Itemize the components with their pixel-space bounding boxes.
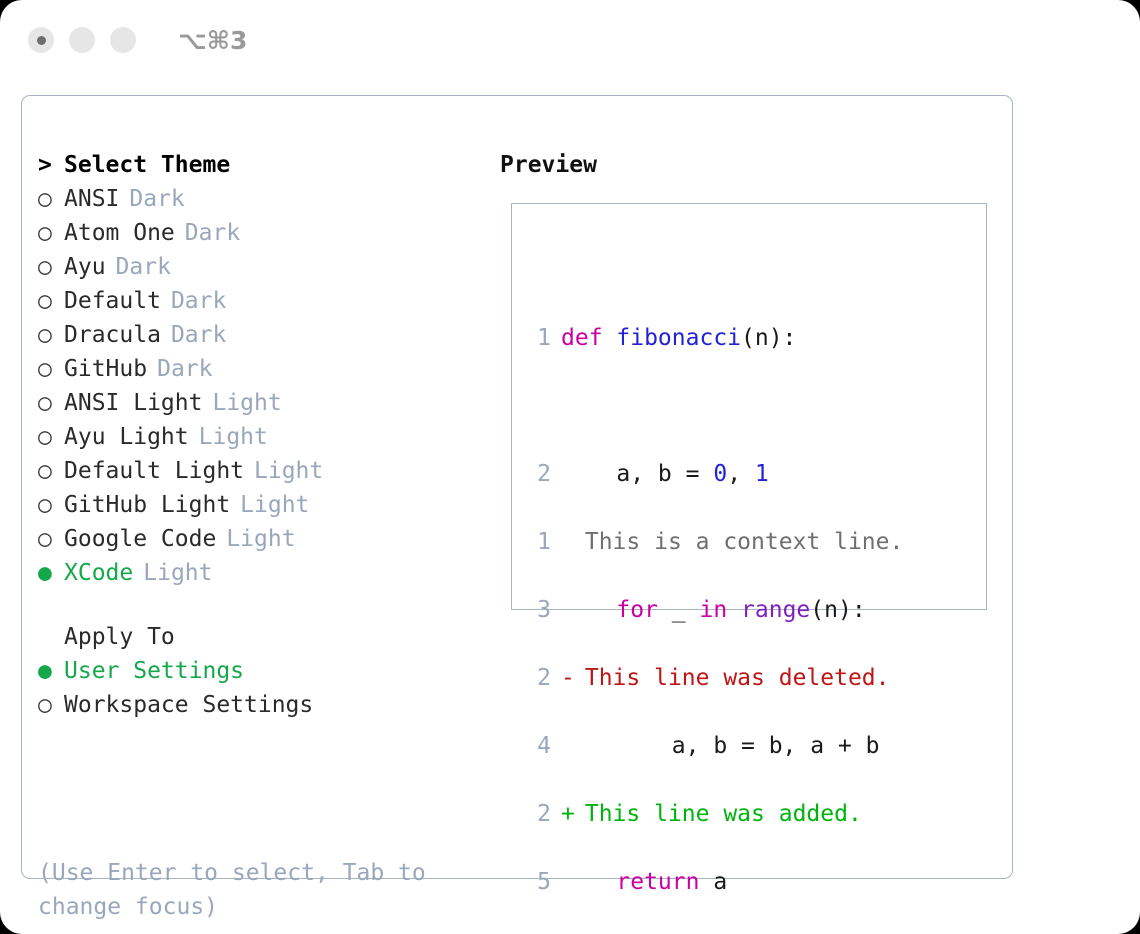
select-theme-heading-label: Select Theme xyxy=(64,152,230,178)
theme-item-label: GitHub Light xyxy=(64,492,230,518)
apply-to-option-label: User Settings xyxy=(64,658,244,684)
theme-item-atom-one[interactable]: ○Atom OneDark xyxy=(38,216,468,250)
theme-item-default-light[interactable]: ○Default LightLight xyxy=(38,454,468,488)
diff-sign xyxy=(561,529,575,555)
radio-selected-icon[interactable]: ● xyxy=(38,654,64,688)
preview-section: Preview xyxy=(500,148,1000,182)
theme-item-variant: Dark xyxy=(171,288,226,314)
app-window: ⌥⌘3 >Select Theme ○ANSIDark ○Atom OneDar… xyxy=(0,0,1140,934)
radio-empty-icon[interactable]: ○ xyxy=(38,522,64,556)
title-bar: ⌥⌘3 xyxy=(0,0,1140,80)
theme-item-variant: Dark xyxy=(157,356,212,382)
theme-item-github-light[interactable]: ○GitHub LightLight xyxy=(38,488,468,522)
radio-empty-icon[interactable]: ○ xyxy=(38,688,64,722)
code-token: def xyxy=(561,325,616,351)
diff-sign: + xyxy=(561,801,575,827)
theme-item-label: Ayu Light xyxy=(64,424,189,450)
theme-item-label: Google Code xyxy=(64,526,216,552)
theme-item-label: Default xyxy=(64,288,161,314)
radio-empty-icon[interactable]: ○ xyxy=(38,488,64,522)
apply-to-heading-label: Apply To xyxy=(64,624,175,650)
radio-empty-icon[interactable]: ○ xyxy=(38,216,64,250)
radio-empty-icon[interactable]: ○ xyxy=(38,250,64,284)
theme-item-label: GitHub xyxy=(64,356,147,382)
preview-box: 1def fibonacci(n): 2 a, b = 0, 1 3 for _… xyxy=(511,203,987,610)
theme-item-label: ANSI xyxy=(64,186,119,212)
theme-item-ayu-light[interactable]: ○Ayu LightLight xyxy=(38,420,468,454)
theme-item-variant: Dark xyxy=(116,254,171,280)
theme-item-label: XCode xyxy=(64,560,133,586)
main-panel: >Select Theme ○ANSIDark ○Atom OneDark ○A… xyxy=(21,95,1013,879)
code-line: 1def fibonacci(n): xyxy=(523,321,880,355)
window-minimize-dot[interactable] xyxy=(69,27,95,53)
radio-empty-icon[interactable]: ○ xyxy=(38,284,64,318)
theme-item-label: Ayu xyxy=(64,254,106,280)
diff-line-deleted: 2-This line was deleted. xyxy=(523,661,903,695)
diff-sign: - xyxy=(561,665,575,691)
apply-to-option-workspace-settings[interactable]: ○Workspace Settings xyxy=(38,688,468,722)
theme-item-variant: Light xyxy=(212,390,281,416)
diff-preview: 1 This is a context line. 2-This line wa… xyxy=(523,457,903,899)
theme-item-label: Atom One xyxy=(64,220,175,246)
theme-item-label: Default Light xyxy=(64,458,244,484)
theme-item-variant: Light xyxy=(254,458,323,484)
apply-to-option-label: Workspace Settings xyxy=(64,692,313,718)
window-close-dot[interactable] xyxy=(28,27,54,53)
theme-item-ansi-light[interactable]: ○ANSI LightLight xyxy=(38,386,468,420)
code-token: fibonacci xyxy=(616,325,741,351)
window-maximize-dot[interactable] xyxy=(110,27,136,53)
line-number: 2 xyxy=(523,797,551,831)
preview-title: Preview xyxy=(500,148,1000,182)
theme-item-xcode[interactable]: ●XCodeLight xyxy=(38,556,468,590)
theme-item-dracula[interactable]: ○DraculaDark xyxy=(38,318,468,352)
theme-item-google-code[interactable]: ○Google CodeLight xyxy=(38,522,468,556)
radio-selected-icon[interactable]: ● xyxy=(38,556,64,590)
keyboard-hint-text: (Use Enter to select, Tab to change focu… xyxy=(38,856,458,924)
theme-item-variant: Light xyxy=(143,560,212,586)
theme-item-variant: Dark xyxy=(185,220,240,246)
theme-item-variant: Light xyxy=(199,424,268,450)
apply-to-heading: Apply To xyxy=(38,620,468,654)
select-theme-heading: >Select Theme xyxy=(38,148,468,182)
diff-text: This line was added. xyxy=(585,801,862,827)
diff-text: This is a context line. xyxy=(585,529,904,555)
theme-item-label: ANSI Light xyxy=(64,390,202,416)
radio-empty-icon[interactable]: ○ xyxy=(38,182,64,216)
theme-item-variant: Dark xyxy=(171,322,226,348)
diff-line-context: 1 This is a context line. xyxy=(523,525,903,559)
theme-item-default[interactable]: ○DefaultDark xyxy=(38,284,468,318)
theme-item-github[interactable]: ○GitHubDark xyxy=(38,352,468,386)
diff-line-added: 2+This line was added. xyxy=(523,797,903,831)
line-number: 2 xyxy=(523,661,551,695)
code-token: (n): xyxy=(741,325,796,351)
prompt-caret-icon: > xyxy=(38,148,64,182)
diff-text: This line was deleted. xyxy=(585,665,890,691)
active-dot-indicator xyxy=(37,36,46,45)
keyboard-shortcut-label: ⌥⌘3 xyxy=(178,28,247,53)
theme-item-ansi[interactable]: ○ANSIDark xyxy=(38,182,468,216)
theme-item-variant: Dark xyxy=(129,186,184,212)
theme-item-label: Dracula xyxy=(64,322,161,348)
radio-empty-icon[interactable]: ○ xyxy=(38,454,64,488)
section-spacer xyxy=(38,590,468,620)
radio-empty-icon[interactable]: ○ xyxy=(38,318,64,352)
radio-empty-icon[interactable]: ○ xyxy=(38,420,64,454)
line-number: 1 xyxy=(523,321,551,355)
theme-picker-list: >Select Theme ○ANSIDark ○Atom OneDark ○A… xyxy=(38,148,468,722)
theme-item-variant: Light xyxy=(226,526,295,552)
theme-item-variant: Light xyxy=(240,492,309,518)
apply-to-option-user-settings[interactable]: ●User Settings xyxy=(38,654,468,688)
radio-empty-icon[interactable]: ○ xyxy=(38,352,64,386)
radio-empty-icon[interactable]: ○ xyxy=(38,386,64,420)
theme-item-ayu[interactable]: ○AyuDark xyxy=(38,250,468,284)
line-number: 1 xyxy=(523,525,551,559)
